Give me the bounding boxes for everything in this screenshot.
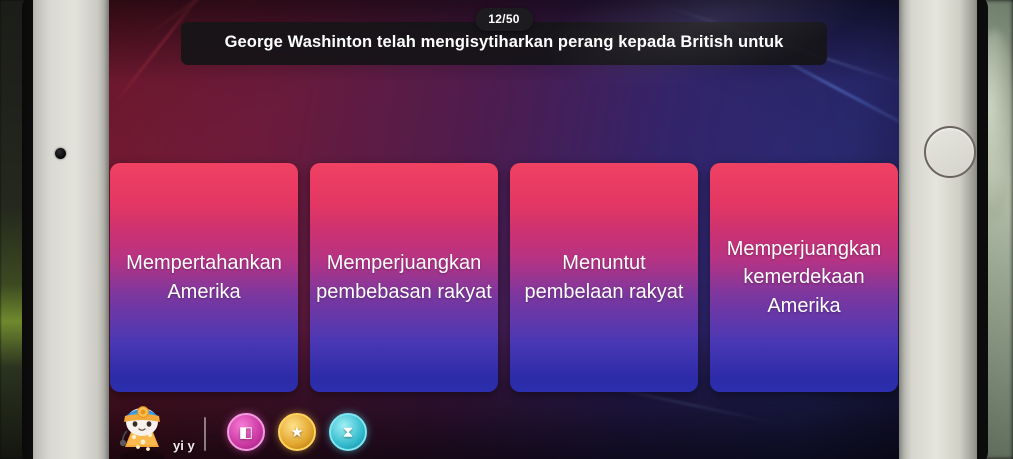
powerups-list: ◧ ★ ⧗ xyxy=(227,413,367,451)
answer-option-4[interactable]: Memperjuangkan kemerdekaan Amerika xyxy=(710,163,898,392)
question-counter-badge: 12/50 xyxy=(475,8,533,31)
time-freeze-powerup-button[interactable]: ⧗ xyxy=(329,413,367,451)
answer-option-label: Memperjuangkan kemerdekaan Amerika xyxy=(710,235,898,320)
front-camera-icon xyxy=(55,148,66,159)
tablet-bezel-right xyxy=(899,0,977,459)
eraser-powerup-button[interactable]: ◧ xyxy=(227,413,265,451)
tablet-bezel-left xyxy=(33,0,109,459)
screenshot-root: 12/50 George Washinton telah mengisytiha… xyxy=(0,0,1013,459)
answer-option-label: Memperjuangkan pembebasan rakyat xyxy=(310,249,498,306)
eraser-icon: ◧ xyxy=(239,425,253,440)
answer-option-3[interactable]: Menuntut pembelaan rakyat xyxy=(510,163,698,392)
answer-option-label: Mempertahankan Amerika xyxy=(110,249,298,306)
bottom-bar-divider xyxy=(204,417,206,451)
answer-options-list: Mempertahankan Amerika Memperjuangkan pe… xyxy=(109,163,899,392)
hourglass-icon: ⧗ xyxy=(343,425,354,440)
star-icon: ★ xyxy=(290,425,303,440)
answer-option-1[interactable]: Mempertahankan Amerika xyxy=(110,163,298,392)
player-bottom-bar: yi y ◧ ★ ⧗ xyxy=(109,393,899,459)
player-name: yi y xyxy=(173,439,199,453)
quiz-screen: 12/50 George Washinton telah mengisytiha… xyxy=(109,0,899,459)
avatar[interactable] xyxy=(113,395,171,459)
double-points-powerup-button[interactable]: ★ xyxy=(278,413,316,451)
answer-option-label: Menuntut pembelaan rakyat xyxy=(510,249,698,306)
question-text: George Washinton telah mengisytiharkan p… xyxy=(225,32,784,53)
answer-option-2[interactable]: Memperjuangkan pembebasan rakyat xyxy=(310,163,498,392)
light-streak xyxy=(229,0,504,12)
home-button[interactable] xyxy=(924,126,976,178)
